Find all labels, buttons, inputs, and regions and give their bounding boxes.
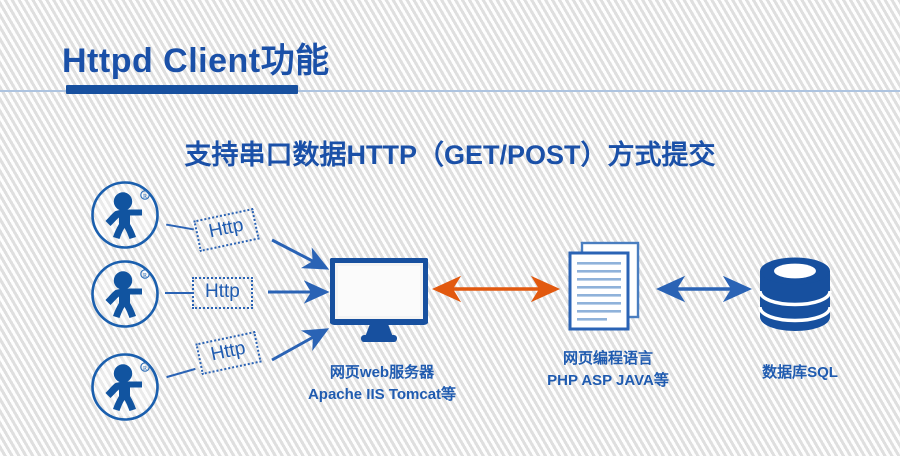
caption-database: 数据库SQL: [700, 362, 900, 384]
database-node: [752, 253, 838, 335]
programming-language-node: [560, 240, 658, 340]
arrow-client-to-server-3: [272, 330, 326, 360]
caption-web-server: 网页web服务器 Apache IIS Tomcat等: [282, 362, 482, 406]
arrow-client-to-server-1: [272, 240, 326, 268]
slide-canvas: Httpd Client功能 支持串口数据HTTP（GET/POST）方式提交: [0, 0, 900, 456]
caption-database-line1: 数据库SQL: [700, 362, 900, 384]
database-icon: [752, 253, 838, 335]
http-label-2: Http: [192, 277, 253, 309]
client-node-2: R: [90, 259, 160, 329]
caption-programming-language-line1: 网页编程语言: [508, 348, 708, 370]
documents-icon: [560, 240, 658, 340]
person-in-circle-icon: R: [90, 352, 160, 422]
svg-text:R: R: [143, 273, 147, 279]
client-node-3: R: [90, 352, 160, 422]
monitor-icon: [330, 258, 428, 344]
svg-text:R: R: [143, 194, 147, 200]
web-server-node: [330, 258, 428, 344]
caption-web-server-line2: Apache IIS Tomcat等: [282, 384, 482, 406]
client-node-1: R: [90, 180, 160, 250]
svg-text:R: R: [143, 366, 147, 372]
person-in-circle-icon: R: [90, 180, 160, 250]
connector-stub-2: [165, 292, 192, 294]
caption-programming-language: 网页编程语言 PHP ASP JAVA等: [508, 348, 708, 392]
person-in-circle-icon: R: [90, 259, 160, 329]
caption-web-server-line1: 网页web服务器: [282, 362, 482, 384]
caption-programming-language-line2: PHP ASP JAVA等: [508, 370, 708, 392]
